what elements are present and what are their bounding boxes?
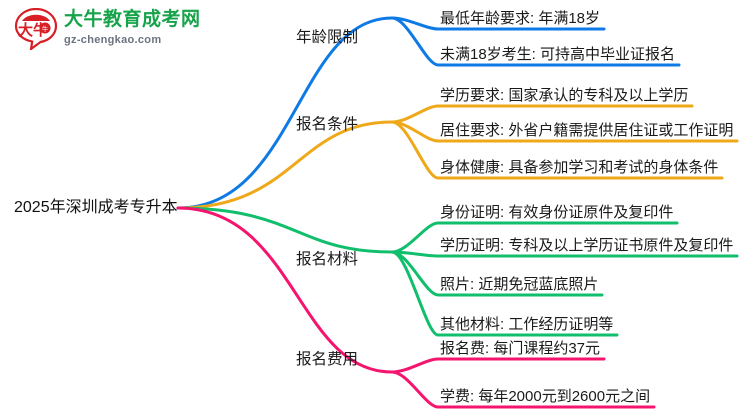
leaf-material-diploma[interactable]: 学历证明: 专科及以上学历证书原件及复印件 — [440, 238, 733, 253]
leaf-education-requirement[interactable]: 学历要求: 国家承认的专科及以上学历 — [440, 88, 688, 103]
leaf-fee-tuition[interactable]: 学费: 每年2000元到2600元之间 — [440, 389, 650, 404]
leaf-residence-requirement[interactable]: 居住要求: 外省户籍需提供居住证或工作证明 — [440, 123, 733, 138]
branch-label-materials[interactable]: 报名材料 — [296, 252, 358, 268]
leaf-health-requirement[interactable]: 身体健康: 具备参加学习和考试的身体条件 — [440, 160, 718, 175]
branch-label-fees[interactable]: 报名费用 — [296, 352, 358, 368]
leaf-material-other[interactable]: 其他材料: 工作经历证明等 — [440, 317, 613, 332]
leaf-age-under18[interactable]: 未满18岁考生: 可持高中毕业证报名 — [440, 47, 675, 62]
branch-label-age-limit[interactable]: 年龄限制 — [296, 30, 358, 46]
leaf-material-photo[interactable]: 照片: 近期免冠蓝底照片 — [440, 277, 598, 292]
leaf-material-id[interactable]: 身份证明: 有效身份证原件及复印件 — [440, 205, 673, 220]
leaf-age-minimum[interactable]: 最低年龄要求: 年满18岁 — [440, 11, 600, 26]
mindmap-canvas: 大牛 牛 大牛教育成考网 gz-chengkao.com 2025年深圳成考专升… — [0, 0, 750, 410]
branch-label-requirements[interactable]: 报名条件 — [296, 117, 358, 133]
leaf-fee-registration[interactable]: 报名费: 每门课程约37元 — [440, 341, 600, 356]
root-node-label[interactable]: 2025年深圳成考专升本 — [14, 200, 178, 216]
